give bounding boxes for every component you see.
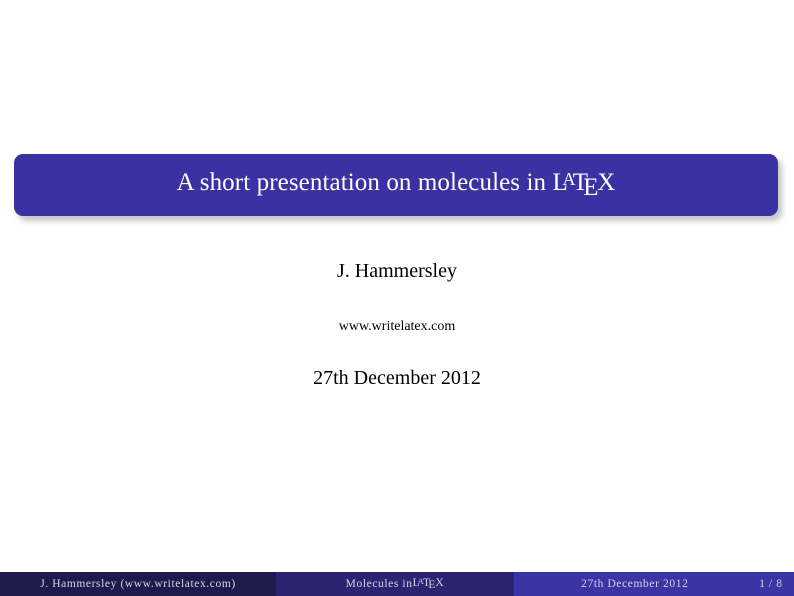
- presentation-date: 27th December 2012: [0, 367, 794, 390]
- title-block: A short presentation on molecules in LAT…: [14, 154, 778, 216]
- latex-logo: LATEX: [552, 170, 615, 200]
- footline-latex-logo: LATEX: [413, 577, 445, 592]
- footline-author: J. Hammersley (www.writelatex.com): [0, 572, 276, 596]
- institute-url: www.writelatex.com: [0, 319, 794, 335]
- presentation-slide: A short presentation on molecules in LAT…: [0, 0, 794, 596]
- footline-latex-logo-x: X: [435, 577, 444, 589]
- title-box: A short presentation on molecules in LAT…: [14, 154, 778, 216]
- title-text-prefix: A short presentation on molecules in: [177, 169, 553, 196]
- page-title: A short presentation on molecules in LAT…: [177, 170, 616, 200]
- latex-logo-x: X: [597, 169, 615, 196]
- footline-title: Molecules in LATEX: [276, 572, 514, 596]
- footline: J. Hammersley (www.writelatex.com) Molec…: [0, 572, 794, 596]
- footline-title-prefix: Molecules in: [346, 578, 413, 590]
- author-name: J. Hammersley: [0, 260, 794, 283]
- footline-frame-number: 1 / 8: [760, 572, 794, 596]
- footline-date: 27th December 2012: [514, 572, 760, 596]
